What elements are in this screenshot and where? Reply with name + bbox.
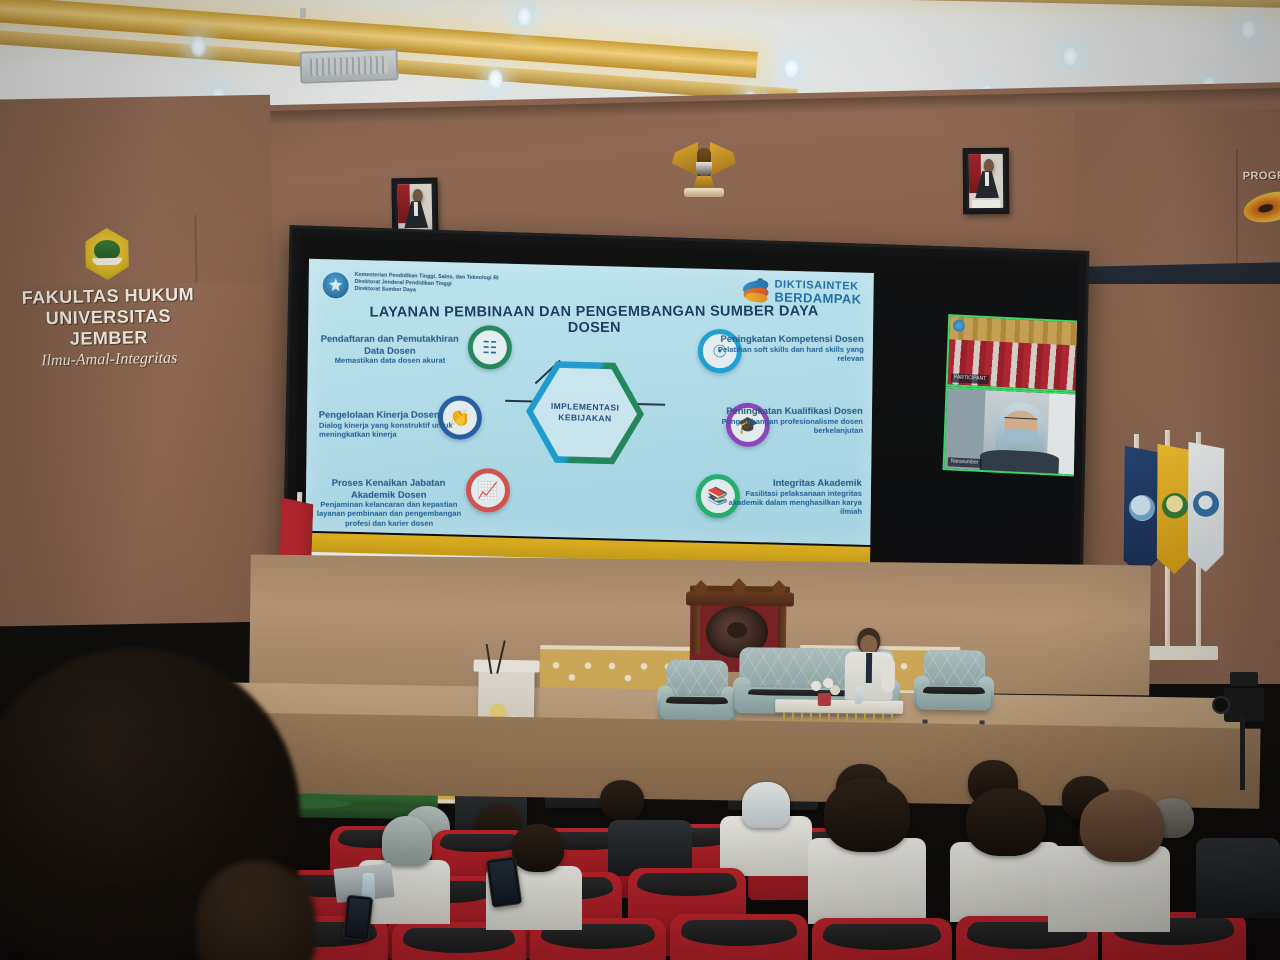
career-growth-icon: 📈 — [477, 482, 498, 500]
ceiling-downlight — [190, 35, 207, 58]
ceiling-downlight — [1062, 45, 1079, 68]
slide-title: LAYANAN PEMBINAAN DAN PENGEMBANGAN SUMBE… — [344, 303, 844, 336]
slide-item-1-sub: Dialog kinerja yang konstruktif untuk me… — [319, 420, 454, 439]
white-flag-emblem — [1193, 491, 1219, 517]
attendee-head — [1080, 790, 1164, 862]
navy-institutional-flag — [1123, 446, 1160, 576]
slide-item-1: Pengelolaan Kinerja Dosen Dialog kinerja… — [319, 409, 454, 439]
attendee-head — [742, 782, 790, 828]
program-sign-text: PROGR — [1243, 169, 1280, 182]
garuda-wing-left — [672, 142, 698, 176]
seated-speaker — [845, 628, 894, 705]
node-career-growth-icon: 📈 — [466, 468, 511, 513]
ceiling-downlight — [1240, 18, 1257, 41]
attendee-head — [382, 816, 432, 866]
audience-tile-label: PARTICIPANT — [951, 373, 990, 384]
slide-item-2-sub: Penjaminan kelancaran dan kepastian laya… — [314, 500, 464, 528]
speaker-webcam-tile[interactable]: Narasumber — [943, 386, 1079, 477]
program-studi-logo — [1240, 184, 1280, 230]
garuda-pancasila-emblem — [672, 140, 736, 202]
program-wall-sign: PROGR — [1243, 169, 1280, 224]
slide-item-0-sub: Memastikan data dosen akurat — [320, 356, 460, 366]
attendee-phone[interactable] — [343, 895, 373, 941]
node-org-chart-icon: ☷ — [468, 325, 513, 370]
gold-flag-emblem — [1162, 493, 1188, 519]
slide-item-5-heading: Integritas Akademik — [714, 477, 862, 489]
slide-item-2-heading2: Akademik Dosen — [314, 488, 464, 500]
speaker-tile-label: Narasumber — [948, 457, 982, 468]
ceiling-ac-vent — [299, 48, 398, 83]
faculty-name-line2: UNIVERSITAS JEMBER — [8, 305, 209, 351]
gong-post-left — [692, 598, 701, 654]
slide-item-5-sub: Fasilitasi pelaksanaan integritas akadem… — [714, 488, 862, 516]
slide-item-0-heading: Pendaftaran dan Pemutakhiran — [320, 333, 460, 345]
faculty-wall-sign: FAKULTAS HUKUM UNIVERSITAS JEMBER Ilmu-A… — [7, 226, 210, 371]
garuda-wing-right — [710, 142, 736, 176]
ceiling-downlight — [487, 68, 504, 91]
audience-seat — [812, 918, 952, 960]
video-camera-rig — [1218, 672, 1274, 792]
org-chart-icon: ☷ — [482, 339, 497, 356]
camera-lens-icon — [1212, 696, 1230, 714]
water-bottle — [855, 686, 862, 704]
slide-item-4-heading: Peningkatan Kualifikasi Dosen — [715, 405, 863, 417]
projection-screen-surface: Kementerian Pendidikan Tinggi, Sains, da… — [294, 236, 1078, 584]
projection-screen[interactable]: Kementerian Pendidikan Tinggi, Sains, da… — [283, 225, 1090, 596]
navy-flag-emblem — [1129, 495, 1155, 521]
slide-item-4-sub: Pengembangan profesionalisme dosen berke… — [715, 416, 863, 435]
attendee-head — [824, 778, 910, 852]
attendee-head — [600, 780, 644, 820]
ministry-text: Kementerian Pendidikan Tinggi, Sains, da… — [355, 272, 575, 299]
slide-item-3-sub: Pelatihan soft skills dan hard skills ya… — [716, 344, 864, 363]
diktisaintek-berdampak-logo: DIKTISAINTEK BERDAMPAK — [742, 278, 861, 306]
attendee-head — [966, 788, 1046, 856]
tut-wuri-handayani-logo — [323, 272, 349, 299]
slide-item-2: Proses Kenaikan Jabatan Akademik Dosen P… — [314, 477, 465, 528]
slide-item-1-heading: Pengelolaan Kinerja Dosen — [319, 409, 454, 421]
white-institutional-flag — [1188, 442, 1225, 572]
slide-item-0-heading2: Data Dosen — [320, 344, 460, 356]
center-hexagon: IMPLEMENTASI KEBIJAKAN — [525, 357, 644, 468]
attendee-phone[interactable] — [486, 856, 522, 908]
sprinkler-head — [300, 8, 306, 18]
presentation-slide: Kementerian Pendidikan Tinggi, Sains, da… — [305, 259, 873, 545]
diktisaintek-mark-icon — [742, 278, 770, 304]
ceiling-downlight — [516, 5, 533, 28]
video-conference-panel[interactable]: PARTICIPANT Narasumber — [943, 314, 1079, 477]
auditorium-scene: FAKULTAS HUKUM UNIVERSITAS JEMBER Ilmu-A… — [0, 0, 1280, 960]
table-flower-vase — [808, 678, 842, 706]
slide-item-2-heading: Proses Kenaikan Jabatan — [314, 477, 464, 489]
slide-item-0: Pendaftaran dan Pemutakhiran Data Dosen … — [320, 333, 460, 366]
attendee-head — [512, 824, 564, 872]
ceiling-downlight — [783, 57, 800, 80]
slide-item-5: Integritas Akademik Fasilitasi pelaksana… — [714, 477, 862, 517]
faculty-name-line1: FAKULTAS HUKUM — [8, 284, 208, 309]
slide-item-3-heading: Peningkatan Kompetensi Dosen — [716, 333, 864, 345]
universitas-jember-logo — [82, 227, 133, 280]
slide-item-3: Peningkatan Kompetensi Dosen Pelatihan s… — [716, 333, 864, 363]
slide-item-4: Peningkatan Kualifikasi Dosen Pengembang… — [715, 405, 863, 435]
garuda-ribbon — [684, 188, 724, 197]
attendee-body — [1196, 838, 1280, 918]
president-portrait — [963, 148, 1010, 214]
audience-hall-tile[interactable]: PARTICIPANT — [946, 314, 1078, 393]
center-line2: KEBIJAKAN — [558, 412, 611, 424]
audience-seat — [670, 914, 808, 960]
stage-armchair-right — [915, 650, 994, 723]
